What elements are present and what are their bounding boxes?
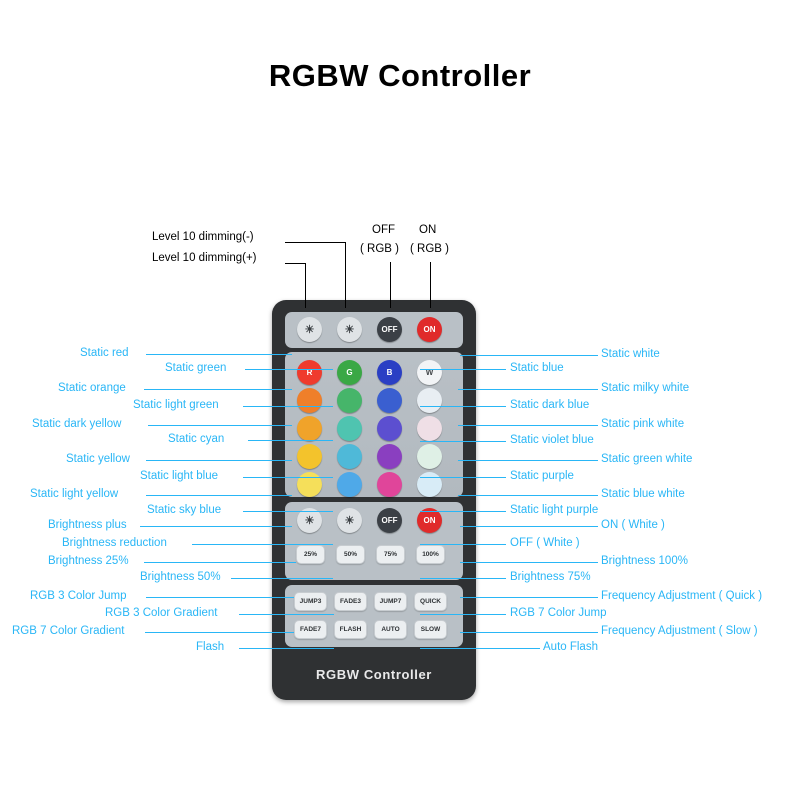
leader-line xyxy=(144,562,296,563)
callout-static-green: Static green xyxy=(165,362,226,374)
color-button-static-cyan[interactable] xyxy=(337,416,362,441)
callout-off-rgb-line1: OFF xyxy=(372,224,395,236)
leader-line xyxy=(345,242,346,308)
callout-auto-flash: Auto Flash xyxy=(543,641,598,653)
callout-static-dark-yellow: Static dark yellow xyxy=(32,418,121,430)
on-rgb-label: ON xyxy=(417,317,442,342)
color-button-static-orange[interactable] xyxy=(297,388,322,413)
leader-line xyxy=(145,632,294,633)
callout-static-yellow: Static yellow xyxy=(66,453,130,465)
callout-static-dark-blue: Static dark blue xyxy=(510,399,589,411)
callout-brightness-reduction: Brightness reduction xyxy=(62,537,167,549)
page-title: RGBW Controller xyxy=(0,58,800,94)
remote-control-body: RGBW Controller ☀ ☀ OFF ON R G B W ☀ ☀ O… xyxy=(272,300,476,700)
callout-rgb-7-color-gradient: RGB 7 Color Gradient xyxy=(12,625,125,637)
sun-minus-icon: ☀ xyxy=(297,317,322,342)
button-dim-plus[interactable]: ☀ xyxy=(337,317,362,342)
leader-line xyxy=(140,526,292,527)
sun-minus-icon: ☀ xyxy=(337,508,362,533)
leader-line xyxy=(243,477,333,478)
leader-line xyxy=(285,242,345,243)
button-off-white[interactable]: OFF xyxy=(377,508,402,533)
leader-line xyxy=(420,406,506,407)
color-button-static-purple[interactable] xyxy=(377,444,402,469)
button-jump3[interactable]: JUMP3 xyxy=(294,592,327,611)
callout-brightness-50: Brightness 50% xyxy=(140,571,221,583)
remote-brand-label: RGBW Controller xyxy=(272,667,476,682)
callout-on-rgb-line1: ON xyxy=(419,224,436,236)
button-auto[interactable]: AUTO xyxy=(374,620,407,639)
leader-line xyxy=(460,632,598,633)
callout-static-blue-white: Static blue white xyxy=(601,488,685,500)
button-slow[interactable]: SLOW xyxy=(414,620,447,639)
button-jump7[interactable]: JUMP7 xyxy=(374,592,407,611)
callout-brightness-plus: Brightness plus xyxy=(48,519,127,531)
leader-line xyxy=(146,354,292,355)
leader-line xyxy=(458,460,598,461)
button-fade7[interactable]: FADE7 xyxy=(294,620,327,639)
callout-static-milky-white: Static milky white xyxy=(601,382,689,394)
color-button-label: R xyxy=(297,360,322,385)
callout-rgb-3-color-gradient: RGB 3 Color Gradient xyxy=(105,607,218,619)
off-white-label: OFF xyxy=(377,508,402,533)
leader-line xyxy=(420,614,506,615)
color-button-static-light-purple[interactable] xyxy=(377,472,402,497)
color-button-static-dark-blue[interactable] xyxy=(377,388,402,413)
button-off-rgb[interactable]: OFF xyxy=(377,317,402,342)
color-button-label: W xyxy=(417,360,442,385)
callout-static-light-green: Static light green xyxy=(133,399,219,411)
callout-frequency-slow: Frequency Adjustment ( Slow ) xyxy=(601,625,758,637)
leader-line xyxy=(285,263,305,264)
color-button-static-light-blue[interactable] xyxy=(337,444,362,469)
off-rgb-label: OFF xyxy=(377,317,402,342)
leader-line xyxy=(420,511,506,512)
leader-line xyxy=(239,614,334,615)
leader-line xyxy=(458,495,598,496)
leader-line xyxy=(460,355,598,356)
button-brightness-75[interactable]: 75% xyxy=(376,545,405,564)
leader-line xyxy=(148,425,292,426)
callout-static-orange: Static orange xyxy=(58,382,126,394)
color-button-static-light-green[interactable] xyxy=(337,388,362,413)
color-button-label: G xyxy=(337,360,362,385)
callout-static-light-blue: Static light blue xyxy=(140,470,218,482)
color-button-static-white[interactable]: W xyxy=(417,360,442,385)
callout-flash: Flash xyxy=(196,641,224,653)
leader-line xyxy=(243,406,333,407)
callout-brightness-100: Brightness 100% xyxy=(601,555,688,567)
callout-frequency-quick: Frequency Adjustment ( Quick ) xyxy=(601,590,762,602)
color-button-static-blue-white[interactable] xyxy=(417,472,442,497)
leader-line xyxy=(192,544,333,545)
callout-rgb-3-color-jump: RGB 3 Color Jump xyxy=(30,590,127,602)
leader-line xyxy=(420,578,506,579)
callout-off-rgb-line2: ( RGB ) xyxy=(360,243,399,255)
callout-on-white: ON ( White ) xyxy=(601,519,665,531)
leader-line xyxy=(420,544,506,545)
leader-line xyxy=(231,578,333,579)
callout-static-green-white: Static green white xyxy=(601,453,692,465)
leader-line xyxy=(245,369,333,370)
callout-on-rgb-line2: ( RGB ) xyxy=(410,243,449,255)
button-on-rgb[interactable]: ON xyxy=(417,317,442,342)
leader-line xyxy=(458,389,598,390)
leader-line xyxy=(239,648,334,649)
color-button-label: B xyxy=(377,360,402,385)
button-brightness-50[interactable]: 50% xyxy=(336,545,365,564)
color-button-static-green-white[interactable] xyxy=(417,444,442,469)
color-button-static-light-yellow[interactable] xyxy=(297,472,322,497)
leader-line xyxy=(146,460,292,461)
callout-static-light-purple: Static light purple xyxy=(510,504,598,516)
callout-rgb-7-color-jump: RGB 7 Color Jump xyxy=(510,607,607,619)
callout-brightness-75: Brightness 75% xyxy=(510,571,591,583)
leader-line xyxy=(460,526,598,527)
color-button-static-red[interactable]: R xyxy=(297,360,322,385)
callout-level-10-dimming-plus: Level 10 dimming(+) xyxy=(152,252,257,264)
leader-line xyxy=(248,440,333,441)
leader-line xyxy=(146,495,292,496)
button-dim-minus[interactable]: ☀ xyxy=(297,317,322,342)
color-button-static-violet-blue[interactable] xyxy=(377,416,402,441)
button-brightness-reduction[interactable]: ☀ xyxy=(337,508,362,533)
button-fade3[interactable]: FADE3 xyxy=(334,592,367,611)
button-brightness-25[interactable]: 25% xyxy=(296,545,325,564)
callout-off-white: OFF ( White ) xyxy=(510,537,580,549)
leader-line xyxy=(243,511,333,512)
callout-brightness-25: Brightness 25% xyxy=(48,555,129,567)
color-button-static-pink-white[interactable] xyxy=(417,416,442,441)
leader-line xyxy=(460,562,598,563)
callout-static-pink-white: Static pink white xyxy=(601,418,684,430)
leader-line xyxy=(458,425,598,426)
color-button-static-yellow[interactable] xyxy=(297,444,322,469)
sun-plus-icon: ☀ xyxy=(337,317,362,342)
button-flash[interactable]: FLASH xyxy=(334,620,367,639)
callout-static-blue: Static blue xyxy=(510,362,564,374)
color-button-static-green[interactable]: G xyxy=(337,360,362,385)
callout-static-light-yellow: Static light yellow xyxy=(30,488,118,500)
callout-static-white: Static white xyxy=(601,348,660,360)
leader-line xyxy=(420,648,540,649)
callout-level-10-dimming-minus: Level 10 dimming(-) xyxy=(152,231,254,243)
color-button-static-milky-white[interactable] xyxy=(417,388,442,413)
button-brightness-100[interactable]: 100% xyxy=(416,545,445,564)
callout-static-purple: Static purple xyxy=(510,470,574,482)
callout-static-red: Static red xyxy=(80,347,129,359)
leader-line xyxy=(420,369,506,370)
leader-line xyxy=(430,262,431,308)
leader-line xyxy=(144,389,292,390)
leader-line xyxy=(305,263,306,308)
leader-line xyxy=(146,597,294,598)
color-button-static-sky-blue[interactable] xyxy=(337,472,362,497)
leader-line xyxy=(420,441,506,442)
leader-line xyxy=(460,597,598,598)
callout-static-cyan: Static cyan xyxy=(168,433,224,445)
color-button-static-blue[interactable]: B xyxy=(377,360,402,385)
callout-static-violet-blue: Static violet blue xyxy=(510,434,594,446)
color-button-static-dark-yellow[interactable] xyxy=(297,416,322,441)
leader-line xyxy=(390,262,391,308)
leader-line xyxy=(420,477,506,478)
callout-static-sky-blue: Static sky blue xyxy=(147,504,221,516)
button-quick[interactable]: QUICK xyxy=(414,592,447,611)
